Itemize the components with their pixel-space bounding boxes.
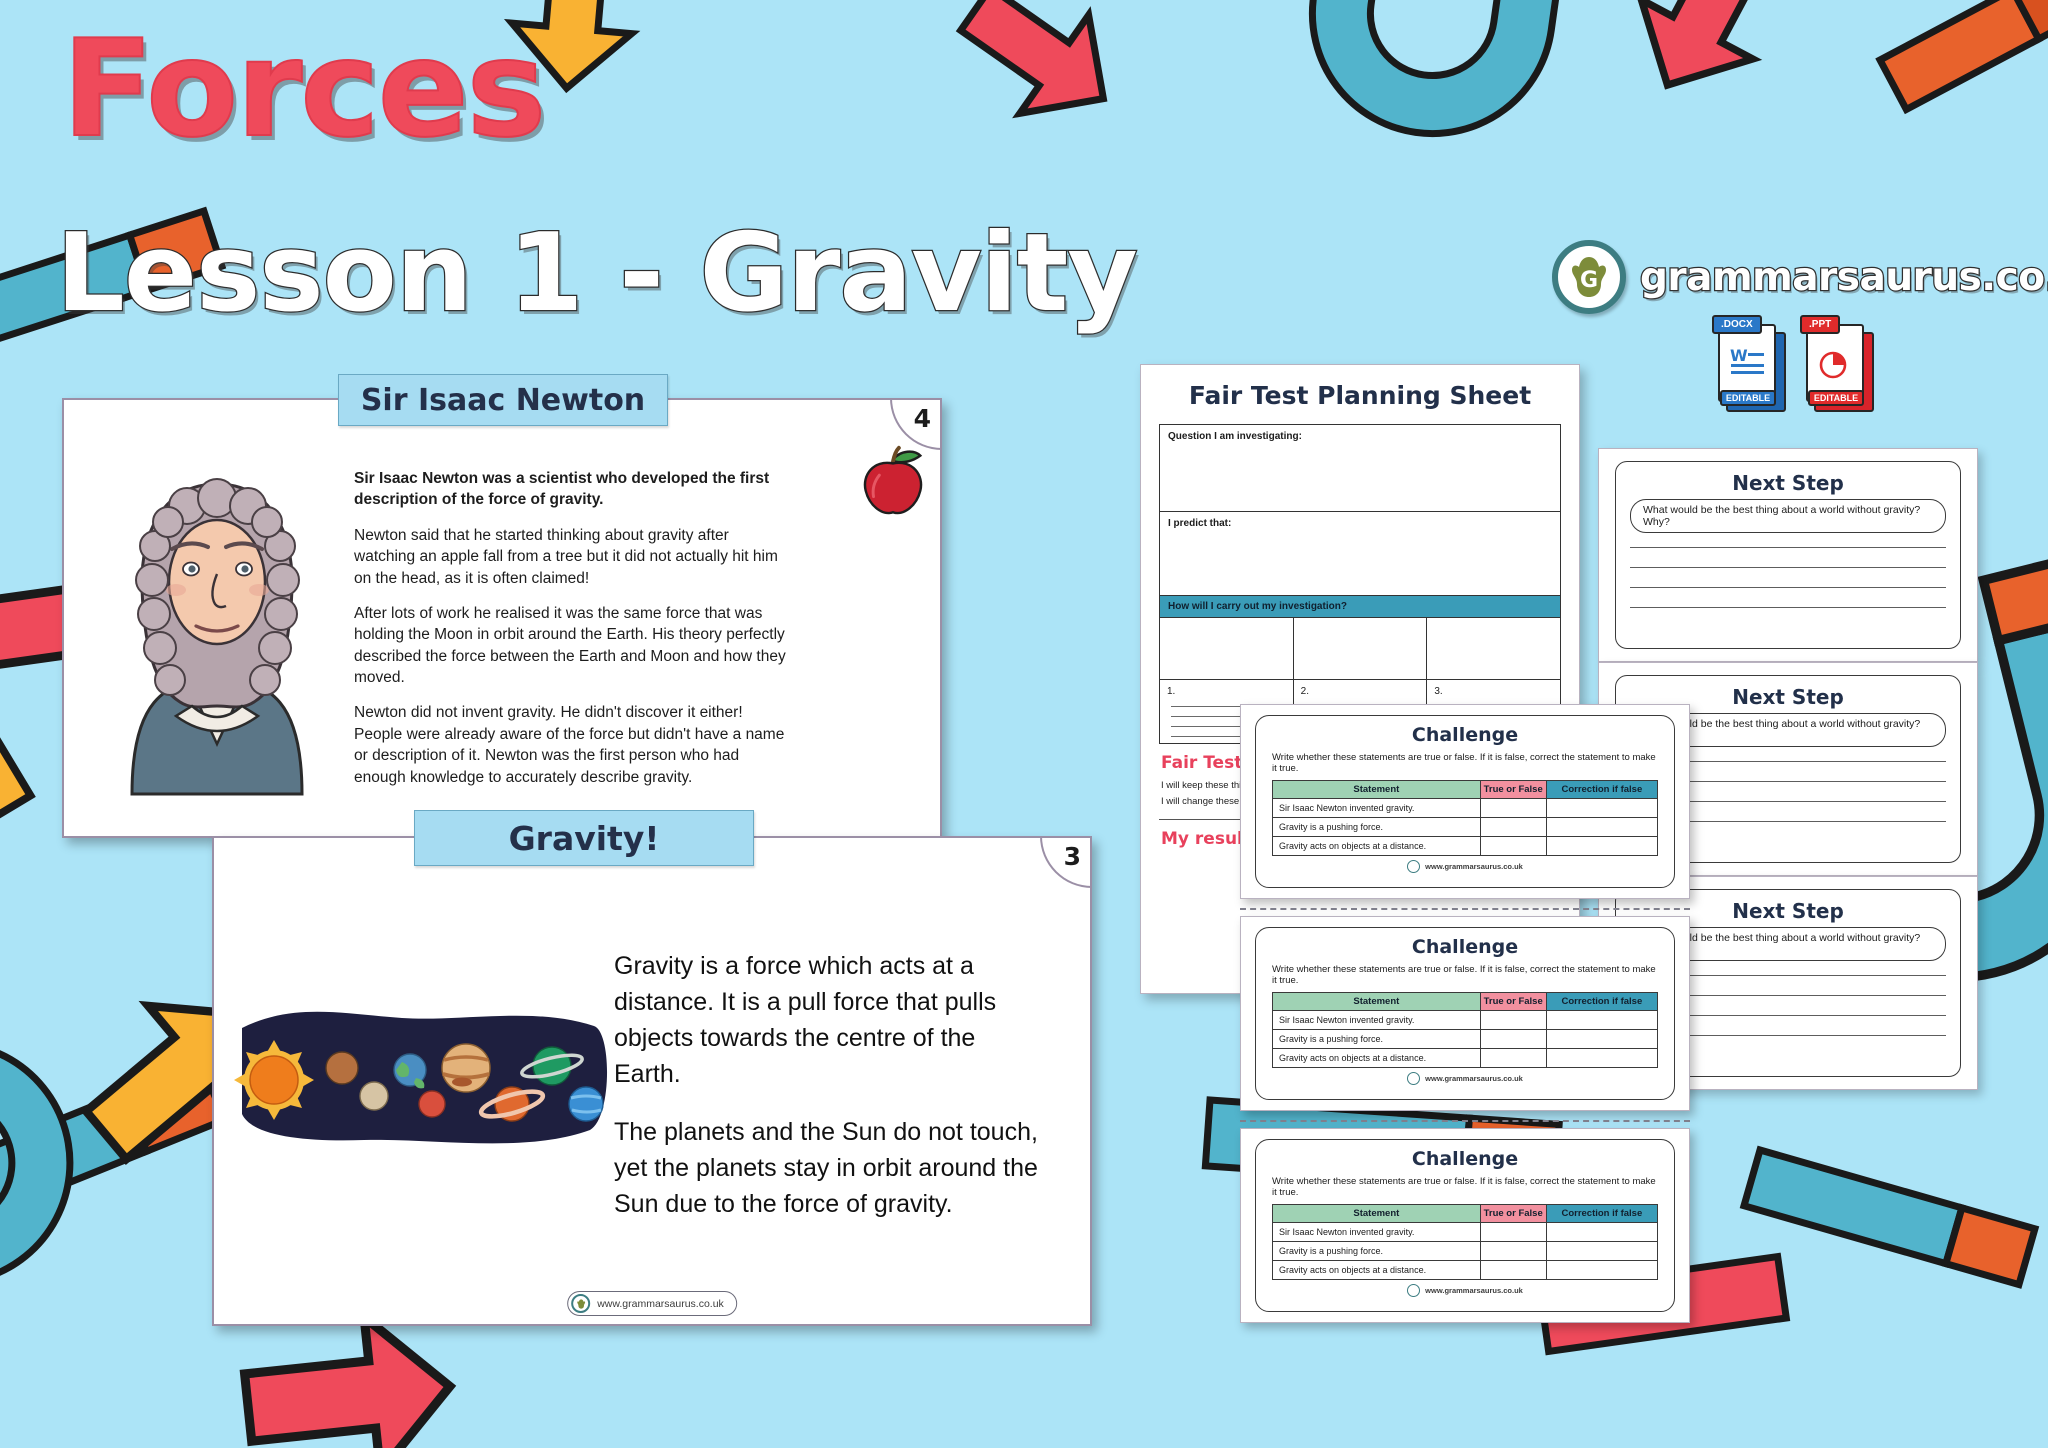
method-col-3[interactable] [1427,618,1560,679]
challenge-title: Challenge [1272,936,1658,958]
table-row[interactable]: Gravity is a pushing force. [1273,1030,1658,1049]
statement-cell: Sir Isaac Newton invented gravity. [1273,799,1481,818]
newton-body-text: Sir Isaac Newton was a scientist who dev… [354,468,794,802]
statement-cell: Gravity acts on objects at a distance. [1273,1049,1481,1068]
challenge-title: Challenge [1272,1148,1658,1170]
col-true-false: True or False [1480,993,1546,1011]
cut-line [1240,1120,1690,1122]
correction-cell[interactable] [1546,1242,1657,1261]
challenge-card[interactable]: Challenge Write whether these statements… [1240,704,1690,899]
rule [1630,607,1946,608]
true-false-cell[interactable] [1480,1261,1546,1280]
true-false-cell[interactable] [1480,799,1546,818]
challenge-card[interactable]: Challenge Write whether these statements… [1240,1128,1690,1323]
slide-banner-gravity: Gravity! [414,810,754,866]
slide-page-number: 3 [1040,836,1092,888]
correction-cell[interactable] [1546,818,1657,837]
next-step-title: Next Step [1630,471,1946,495]
true-false-cell[interactable] [1480,818,1546,837]
grammarsaurus-mini-icon [1407,860,1420,873]
table-row[interactable]: Gravity acts on objects at a distance. [1273,837,1658,856]
slide-footer: www.grammarsaurus.co.uk [567,1291,737,1316]
newton-paragraph-2: Newton said that he started thinking abo… [354,525,794,589]
gravity-paragraph-2: The planets and the Sun do not touch, ye… [614,1114,1044,1222]
next-step-frame: Next Step What would be the best thing a… [1615,461,1961,649]
correction-cell[interactable] [1546,1049,1657,1068]
file-badge-docx: .DOCX W EDITABLE [1718,324,1782,410]
col-correction: Correction if false [1546,993,1657,1011]
newton-paragraph-4: Newton did not invent gravity. He didn't… [354,702,794,788]
correction-cell[interactable] [1546,1011,1657,1030]
newton-portrait-illustration [92,454,342,804]
col-statement: Statement [1273,781,1481,799]
table-row[interactable]: Sir Isaac Newton invented gravity. [1273,1011,1658,1030]
challenge-footer: www.grammarsaurus.co.uk [1272,1284,1658,1297]
challenge-frame: Challenge Write whether these statements… [1255,927,1675,1100]
slide-sir-isaac-newton[interactable]: 4 Sir Isaac Newton [62,398,942,838]
svg-text:G: G [1580,268,1598,293]
challenge-table[interactable]: Statement True or False Correction if fa… [1272,992,1658,1068]
challenge-frame: Challenge Write whether these statements… [1255,715,1675,888]
footer-url: www.grammarsaurus.co.uk [597,1298,724,1310]
ppt-editable-label: EDITABLE [1808,390,1864,406]
challenge-footer-url: www.grammarsaurus.co.uk [1425,862,1523,871]
true-false-cell[interactable] [1480,1049,1546,1068]
statement-cell: Gravity is a pushing force. [1273,1030,1481,1049]
brand-logo: G grammarsaurus.co.uk [1552,240,2048,314]
rule [1630,547,1946,548]
rule [1630,567,1946,568]
challenge-footer: www.grammarsaurus.co.uk [1272,860,1658,873]
prediction-field[interactable]: I predict that: [1159,512,1561,596]
method-col-2[interactable] [1294,618,1428,679]
slide-gravity[interactable]: 3 Gravity! [212,836,1092,1326]
next-step-answer-lines[interactable] [1630,547,1946,608]
true-false-cell[interactable] [1480,1223,1546,1242]
ppt-extension-label: .PPT [1800,315,1840,334]
grammarsaurus-mini-icon [1407,1072,1420,1085]
challenge-table[interactable]: Statement True or False Correction if fa… [1272,1204,1658,1280]
statement-cell: Gravity acts on objects at a distance. [1273,837,1481,856]
challenge-footer-url: www.grammarsaurus.co.uk [1425,1286,1523,1295]
grammarsaurus-mini-icon [571,1294,590,1313]
svg-text:W: W [1730,346,1748,365]
challenge-footer-url: www.grammarsaurus.co.uk [1425,1074,1523,1083]
preview-canvas: Forces Lesson 1 - Gravity G grammarsauru… [0,0,2048,1448]
file-badge-ppt: .PPT EDITABLE [1806,324,1870,410]
fair-test-planning-sheet[interactable]: Fair Test Planning Sheet Question I am i… [1140,364,1580,994]
fair-test-title: Fair Test Planning Sheet [1159,381,1561,410]
challenge-instruction: Write whether these statements are true … [1272,1176,1658,1198]
apple-illustration [854,442,932,520]
gravity-paragraph-1: Gravity is a force which acts at a dista… [614,948,1044,1092]
statement-cell: Sir Isaac Newton invented gravity. [1273,1011,1481,1030]
newton-paragraph-3: After lots of work he realised it was th… [354,603,794,689]
page-title-forces: Forces [62,22,544,156]
challenge-footer: www.grammarsaurus.co.uk [1272,1072,1658,1085]
correction-cell[interactable] [1546,799,1657,818]
step-1-number: 1. [1167,686,1175,697]
step-3-number: 3. [1434,686,1442,697]
col-true-false: True or False [1480,1205,1546,1223]
challenge-instruction: Write whether these statements are true … [1272,752,1658,774]
table-row[interactable]: Gravity acts on objects at a distance. [1273,1261,1658,1280]
table-row[interactable]: Sir Isaac Newton invented gravity. [1273,1223,1658,1242]
true-false-cell[interactable] [1480,1242,1546,1261]
next-step-card[interactable]: Next Step What would be the best thing a… [1598,448,1978,662]
method-col-1[interactable] [1160,618,1294,679]
table-row[interactable]: Gravity acts on objects at a distance. [1273,1049,1658,1068]
challenge-title: Challenge [1272,724,1658,746]
col-statement: Statement [1273,1205,1481,1223]
col-statement: Statement [1273,993,1481,1011]
table-row[interactable]: Gravity is a pushing force. [1273,818,1658,837]
cut-line [1240,908,1690,910]
challenge-instruction: Write whether these statements are true … [1272,964,1658,986]
table-row[interactable]: Sir Isaac Newton invented gravity. [1273,799,1658,818]
col-correction: Correction if false [1546,781,1657,799]
step-2-number: 2. [1301,686,1309,697]
statement-cell: Gravity is a pushing force. [1273,1242,1481,1261]
correction-cell[interactable] [1546,1030,1657,1049]
true-false-cell[interactable] [1480,1030,1546,1049]
challenge-card[interactable]: Challenge Write whether these statements… [1240,916,1690,1111]
slide-banner-newton: Sir Isaac Newton [338,374,668,426]
solar-system-illustration [234,988,614,1148]
table-header-row: Statement True or False Correction if fa… [1273,993,1658,1011]
docx-editable-label: EDITABLE [1720,390,1776,406]
prediction-label: I predict that: [1160,512,1560,535]
grammarsaurus-mini-icon [1407,1284,1420,1297]
brand-name: grammarsaurus.co.uk [1640,255,2048,300]
col-correction: Correction if false [1546,1205,1657,1223]
table-header-row: Statement True or False Correction if fa… [1273,1205,1658,1223]
correction-cell[interactable] [1546,1223,1657,1242]
true-false-cell[interactable] [1480,1011,1546,1030]
grammarsaurus-badge-icon: G [1552,240,1626,314]
correction-cell[interactable] [1546,837,1657,856]
table-header-row: Statement True or False Correction if fa… [1273,781,1658,799]
rule [1630,587,1946,588]
true-false-cell[interactable] [1480,837,1546,856]
challenge-table[interactable]: Statement True or False Correction if fa… [1272,780,1658,856]
file-format-badges: .DOCX W EDITABLE .PPT EDITABLE [1718,324,1870,410]
statement-cell: Gravity is a pushing force. [1273,818,1481,837]
docx-extension-label: .DOCX [1712,315,1762,334]
next-step-prompt: What would be the best thing about a wor… [1630,499,1946,533]
table-row[interactable]: Gravity is a pushing force. [1273,1242,1658,1261]
correction-cell[interactable] [1546,1261,1657,1280]
newton-paragraph-1: Sir Isaac Newton was a scientist who dev… [354,468,794,511]
statement-cell: Gravity acts on objects at a distance. [1273,1261,1481,1280]
question-field[interactable]: Question I am investigating: [1159,424,1561,512]
page-subtitle-lesson: Lesson 1 - Gravity [56,220,1137,328]
statement-cell: Sir Isaac Newton invented gravity. [1273,1223,1481,1242]
method-bar-label: How will I carry out my investigation? [1159,596,1561,618]
col-true-false: True or False [1480,781,1546,799]
method-columns[interactable] [1159,618,1561,680]
challenge-frame: Challenge Write whether these statements… [1255,1139,1675,1312]
question-label: Question I am investigating: [1160,425,1560,448]
gravity-body-text: Gravity is a force which acts at a dista… [614,948,1044,1244]
